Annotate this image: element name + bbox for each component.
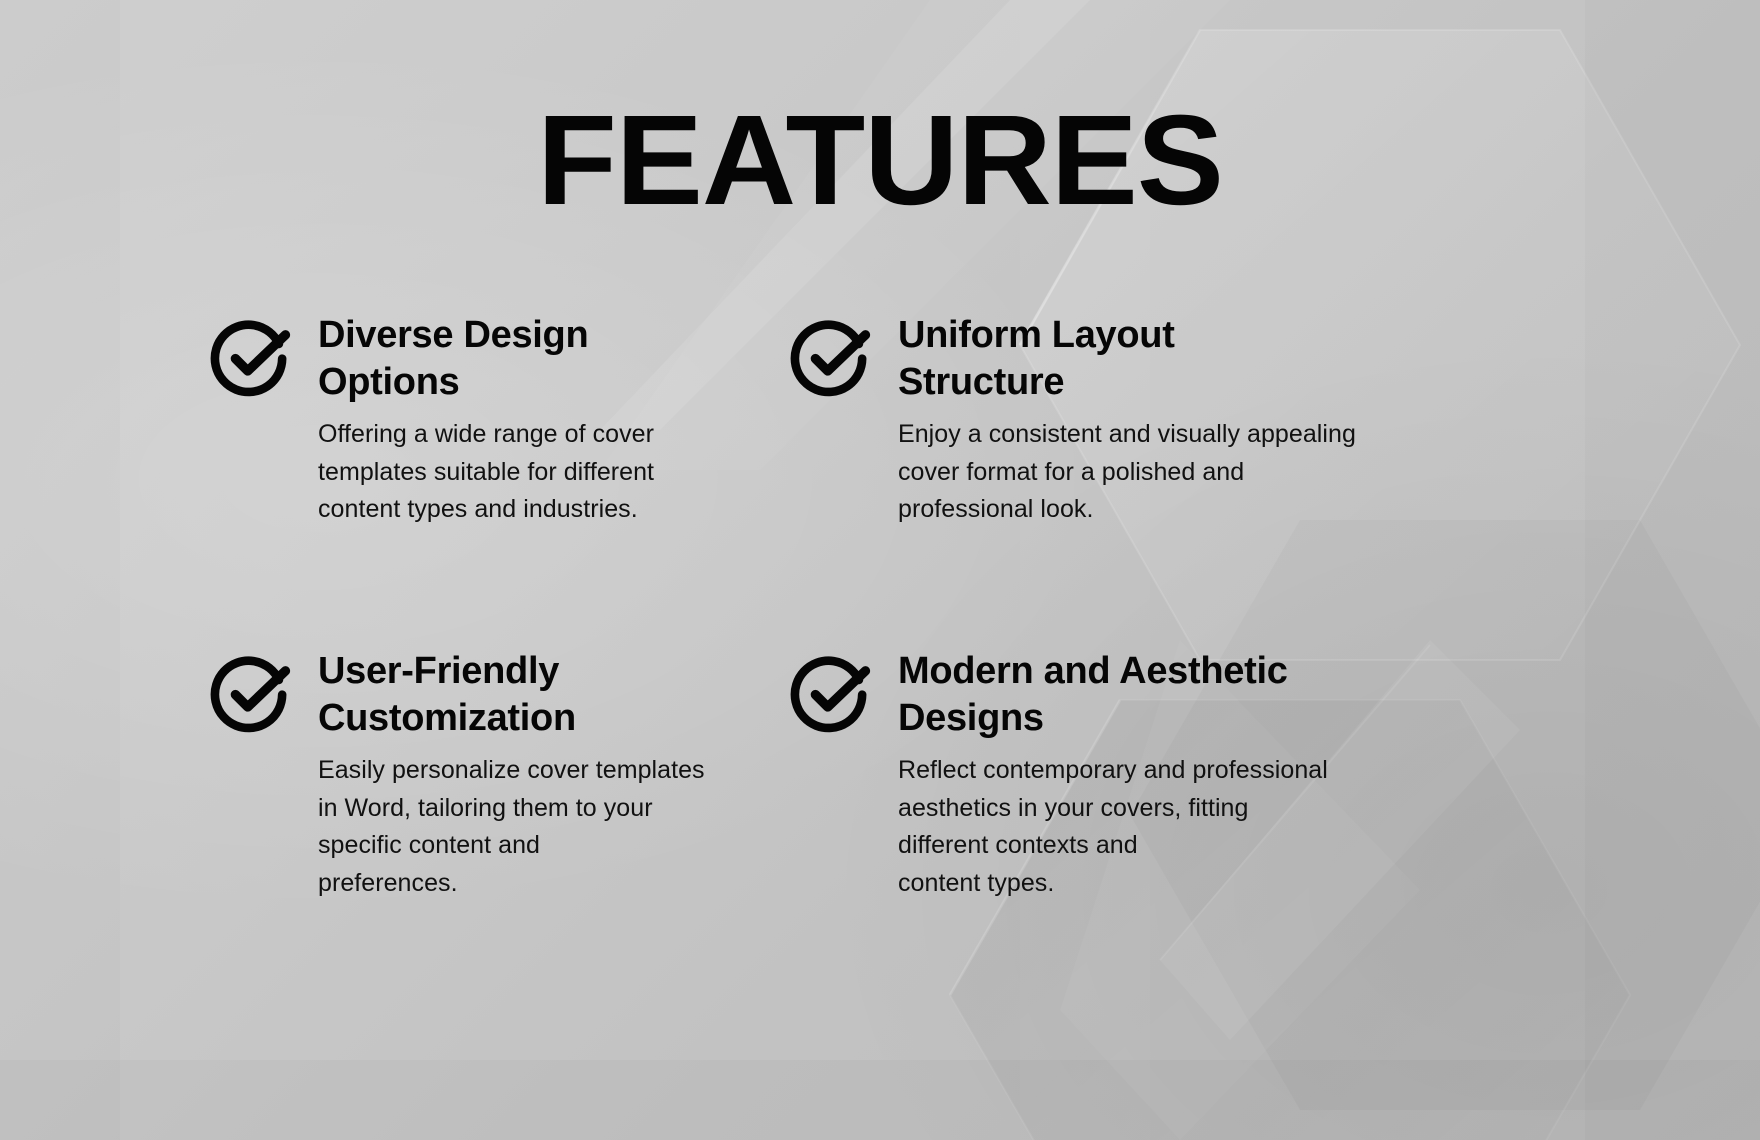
feature-title-line: Modern and Aesthetic	[898, 650, 1288, 692]
feature-title-line: Customization	[318, 697, 576, 739]
feature-body: Uniform Layout Structure Enjoy a consist…	[898, 312, 1350, 529]
feature-desc-line: specific content and	[318, 827, 730, 865]
feature-body: Modern and Aesthetic Designs Reflect con…	[898, 648, 1350, 902]
feature-desc-line: aesthetics in your covers, fitting	[898, 790, 1350, 828]
feature-body: Diverse Design Options Offering a wide r…	[318, 312, 730, 529]
feature-desc-line: in Word, tailoring them to your	[318, 790, 730, 828]
check-circle-icon	[790, 316, 872, 398]
slide-canvas: FEATURES Diverse Design Options Off	[0, 0, 1760, 1140]
check-circle-icon	[790, 652, 872, 734]
check-circle-icon	[210, 652, 292, 734]
feature-item-uniform-layout-structure: Uniform Layout Structure Enjoy a consist…	[790, 312, 1350, 529]
feature-desc-line: different contexts and	[898, 827, 1350, 865]
page-title: FEATURES	[0, 97, 1760, 225]
feature-title-line: Options	[318, 361, 459, 403]
feature-description: Offering a wide range of cover templates…	[318, 416, 730, 529]
feature-title-line: Structure	[898, 361, 1064, 403]
feature-desc-line: content types.	[898, 865, 1350, 903]
feature-desc-line: preferences.	[318, 865, 730, 903]
feature-desc-line: Reflect contemporary and professional	[898, 752, 1350, 790]
feature-title: Diverse Design Options	[318, 312, 730, 406]
feature-title: User-Friendly Customization	[318, 648, 730, 742]
feature-desc-line: professional look.	[898, 491, 1350, 529]
feature-item-diverse-design-options: Diverse Design Options Offering a wide r…	[210, 312, 730, 529]
feature-desc-line: content types and industries.	[318, 491, 730, 529]
check-circle-icon	[210, 316, 292, 398]
feature-title: Modern and Aesthetic Designs	[898, 648, 1350, 742]
feature-description: Reflect contemporary and professional ae…	[898, 752, 1350, 902]
feature-description: Easily personalize cover templates in Wo…	[318, 752, 730, 902]
features-grid: Diverse Design Options Offering a wide r…	[0, 312, 1760, 952]
feature-title-line: Diverse Design	[318, 314, 588, 356]
feature-title-line: User-Friendly	[318, 650, 559, 692]
feature-desc-line: Enjoy a consistent and visually appealin…	[898, 416, 1350, 454]
feature-desc-line: templates suitable for different	[318, 454, 730, 492]
feature-title-line: Uniform Layout	[898, 314, 1175, 356]
feature-title-line: Designs	[898, 697, 1044, 739]
feature-title: Uniform Layout Structure	[898, 312, 1350, 406]
feature-body: User-Friendly Customization Easily perso…	[318, 648, 730, 902]
feature-description: Enjoy a consistent and visually appealin…	[898, 416, 1350, 529]
feature-desc-line: Easily personalize cover templates	[318, 752, 730, 790]
feature-item-modern-and-aesthetic-designs: Modern and Aesthetic Designs Reflect con…	[790, 648, 1350, 902]
feature-desc-line: cover format for a polished and	[898, 454, 1350, 492]
feature-desc-line: Offering a wide range of cover	[318, 416, 730, 454]
feature-item-user-friendly-customization: User-Friendly Customization Easily perso…	[210, 648, 730, 902]
